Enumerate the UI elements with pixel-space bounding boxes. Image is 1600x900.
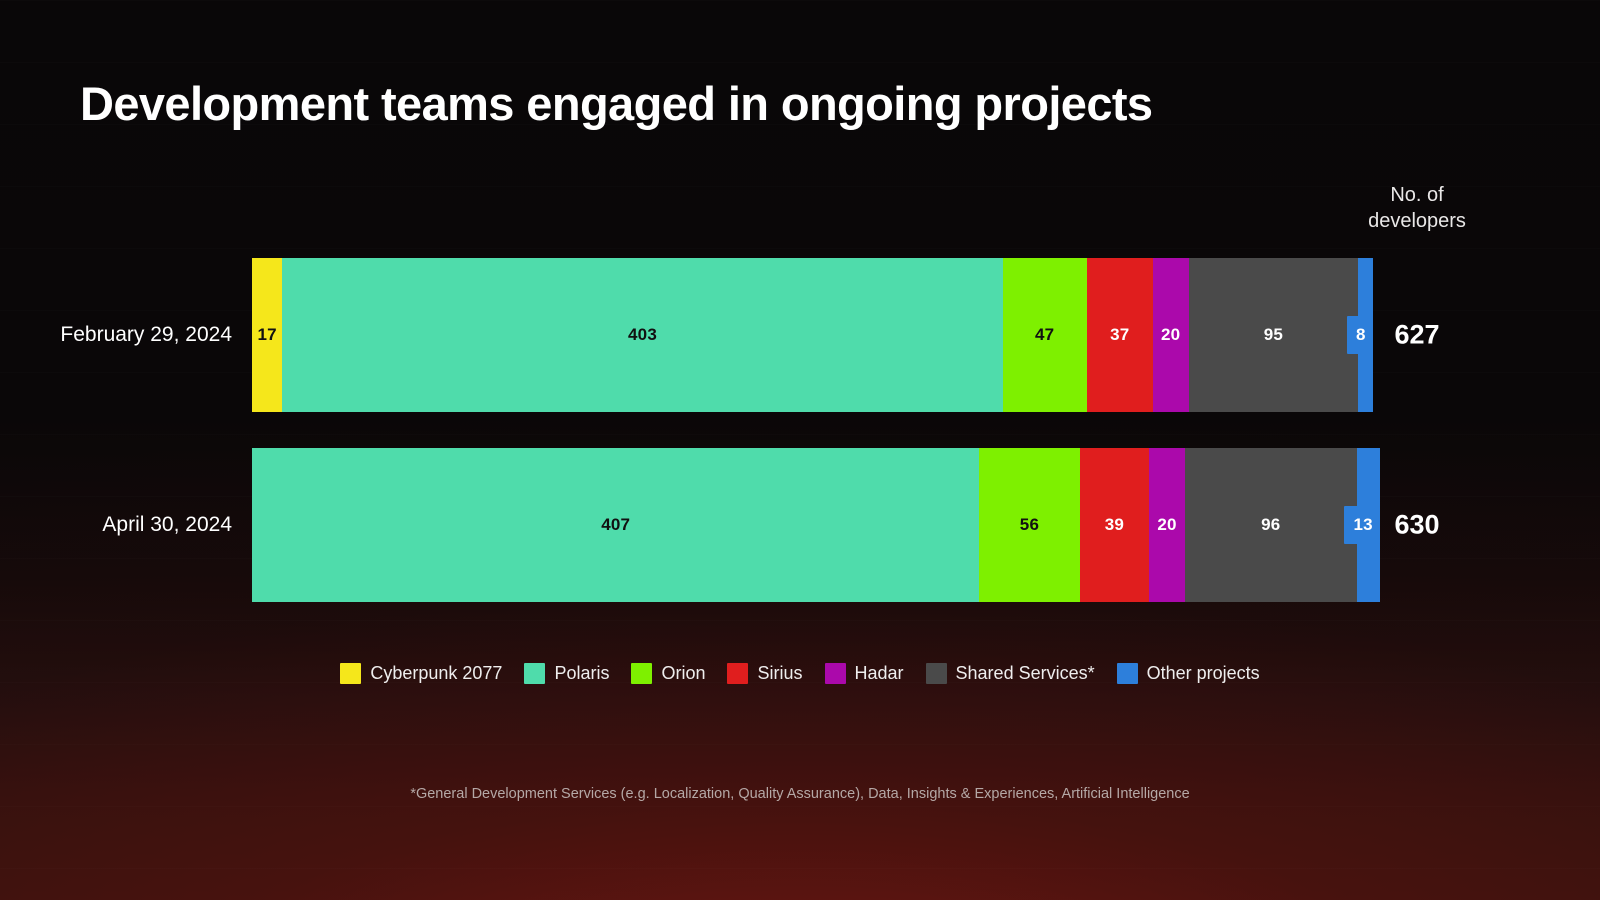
bar-segment-value: 403 (628, 325, 657, 345)
chart-row: April 30, 20244075639209613630 (0, 448, 1600, 602)
legend-item[interactable]: Hadar (825, 663, 904, 684)
legend-swatch-icon (631, 663, 652, 684)
bar-segment-value: 37 (1110, 325, 1129, 345)
legend-swatch-icon (340, 663, 361, 684)
legend-label: Sirius (757, 663, 802, 684)
legend-swatch-icon (727, 663, 748, 684)
legend-label: Other projects (1147, 663, 1260, 684)
legend-swatch-icon (524, 663, 545, 684)
legend-item[interactable]: Polaris (524, 663, 609, 684)
chart-legend: Cyberpunk 2077PolarisOrionSiriusHadarSha… (0, 663, 1600, 684)
bar-segment-value: 17 (258, 325, 277, 345)
bar-segment[interactable]: 407 (252, 448, 979, 602)
legend-item[interactable]: Orion (631, 663, 705, 684)
legend-swatch-icon (1117, 663, 1138, 684)
footnote: *General Development Services (e.g. Loca… (0, 786, 1600, 802)
bar-segment[interactable]: 20 (1149, 448, 1185, 602)
bar-segment[interactable]: 47 (1003, 258, 1087, 412)
legend-item[interactable]: Other projects (1117, 663, 1260, 684)
bar-segment[interactable]: 403 (282, 258, 1002, 412)
bar-segment-value: 39 (1105, 515, 1124, 535)
legend-label: Hadar (855, 663, 904, 684)
row-label: February 29, 2024 (0, 323, 232, 347)
bar-segment-value: 56 (1020, 515, 1039, 535)
bar-segment[interactable]: 13 (1357, 448, 1380, 602)
legend-label: Cyberpunk 2077 (370, 663, 502, 684)
slide-canvas: Development teams engaged in ongoing pro… (0, 0, 1600, 900)
bar-segment-value: 95 (1264, 325, 1283, 345)
bar-segment-value: 13 (1344, 506, 1379, 544)
bar-segment[interactable]: 8 (1358, 258, 1372, 412)
stacked-bar[interactable]: 4075639209613 (252, 448, 1380, 602)
legend-swatch-icon (825, 663, 846, 684)
bar-segment[interactable]: 39 (1080, 448, 1150, 602)
legend-label: Polaris (554, 663, 609, 684)
legend-label: Shared Services* (956, 663, 1095, 684)
bar-segment-value: 20 (1157, 515, 1176, 535)
bar-segment-value: 20 (1161, 325, 1180, 345)
bar-segment[interactable]: 17 (252, 258, 282, 412)
legend-item[interactable]: Shared Services* (926, 663, 1095, 684)
legend-label: Orion (661, 663, 705, 684)
legend-item[interactable]: Sirius (727, 663, 802, 684)
row-label: April 30, 2024 (0, 513, 232, 537)
bar-segment-value: 96 (1261, 515, 1280, 535)
bar-segment[interactable]: 37 (1087, 258, 1153, 412)
bar-segment-value: 47 (1035, 325, 1054, 345)
bar-segment[interactable]: 20 (1153, 258, 1189, 412)
bar-segment-value: 407 (601, 515, 630, 535)
bar-segment[interactable]: 56 (979, 448, 1079, 602)
bar-segment-value: 8 (1347, 316, 1373, 354)
legend-item[interactable]: Cyberpunk 2077 (340, 663, 502, 684)
chart-row: February 29, 202417403473720958627 (0, 258, 1600, 412)
legend-swatch-icon (926, 663, 947, 684)
stacked-bar-chart: February 29, 202417403473720958627April … (0, 0, 1600, 900)
stacked-bar[interactable]: 17403473720958 (252, 258, 1373, 412)
